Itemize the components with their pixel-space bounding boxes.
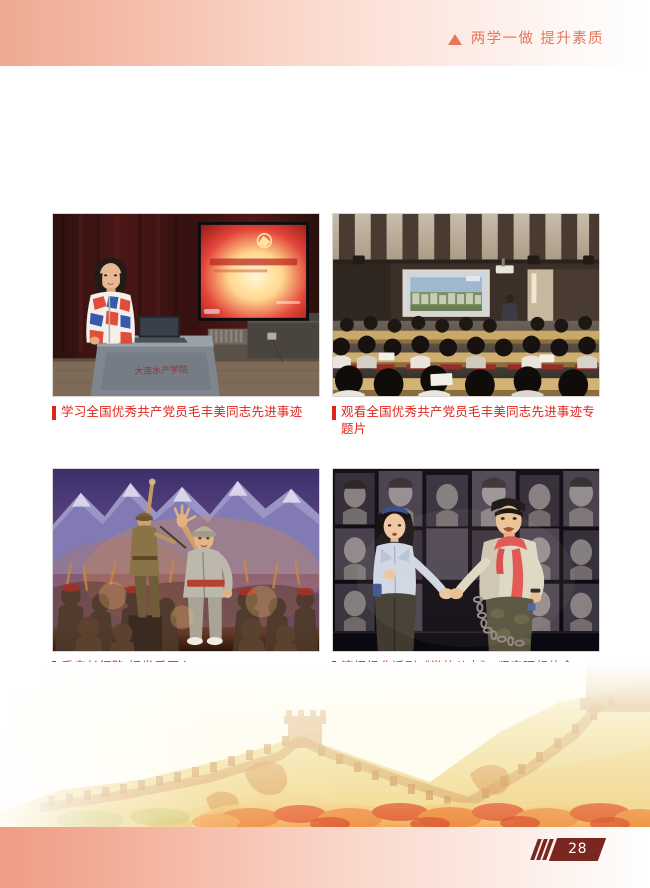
caption-text: 学习全国优秀共产党员毛丰美同志先进事迹 <box>61 404 302 421</box>
caption-marker-icon <box>332 406 336 420</box>
photo-grid: 大连水产学院 <box>52 213 600 676</box>
photo-row-1: 大连水产学院 <box>52 213 600 438</box>
photo-caption-1: 学习全国优秀共产党员毛丰美同志先进事迹 <box>52 404 320 421</box>
photo-speaker-podium-art: 大连水产学院 <box>53 214 319 396</box>
photo-auditorium-audience[interactable] <box>332 213 600 397</box>
photo-cell-2: 观看全国优秀共产党员毛丰美同志先进事迹专题片 <box>332 213 600 438</box>
page-number-text: 28 <box>568 841 587 857</box>
photo-cell-3: 重走长征路 抒发爱国心 <box>52 468 320 676</box>
page-title: 两学一做 提升素质 <box>471 32 604 47</box>
great-wall-artwork <box>0 662 650 827</box>
photo-row-2: 重走长征路 抒发爱国心 <box>52 468 600 676</box>
great-wall-artwork-svg <box>0 662 650 827</box>
photo-long-march-performance-art <box>53 469 319 651</box>
photo-speaker-podium[interactable]: 大连水产学院 <box>52 213 320 397</box>
triangle-up-icon <box>448 34 462 45</box>
photo-long-march-performance[interactable] <box>52 468 320 652</box>
header-title-group: 两学一做 提升素质 <box>448 32 604 47</box>
photo-cell-1: 大连水产学院 <box>52 213 320 438</box>
page-number-group: 28 <box>534 838 602 861</box>
caption-marker-icon <box>52 406 56 420</box>
caption-text: 观看全国优秀共产党员毛丰美同志先进事迹专题片 <box>341 404 600 438</box>
photo-auditorium-audience-art <box>333 214 599 396</box>
page-root: 两学一做 提升素质 <box>0 0 650 888</box>
photo-caption-2: 观看全国优秀共产党员毛丰美同志先进事迹专题片 <box>332 404 600 438</box>
photo-drama-party-daughter[interactable] <box>332 468 600 652</box>
photo-cell-4: 演绎经典话剧《党的儿女》 坚定理想信念 <box>332 468 600 676</box>
page-number-box: 28 <box>549 838 606 861</box>
photo-drama-party-daughter-art <box>333 469 599 651</box>
triple-slash-icon <box>534 838 550 861</box>
